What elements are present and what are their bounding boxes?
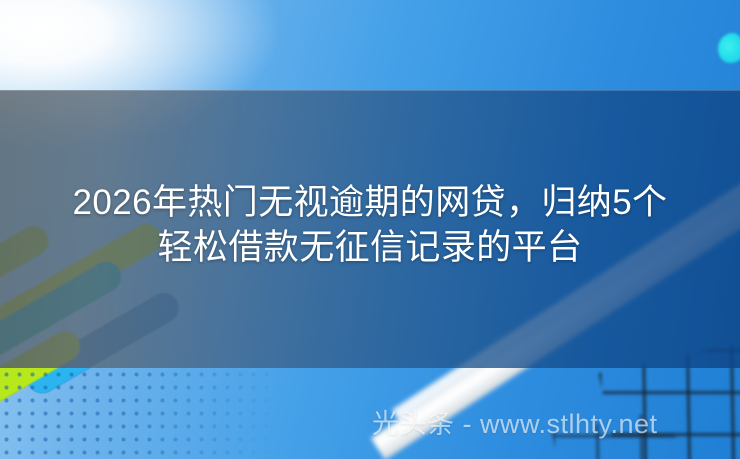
title-line-2: 轻松借款无征信记录的平台	[0, 225, 740, 270]
promo-banner: 2026年热门无视逾期的网贷，归纳5个 轻松借款无征信记录的平台 光头条 - w…	[0, 0, 740, 459]
cyan-blob-decoration	[718, 33, 740, 63]
watermark: 光头条 - www.stlhty.net	[372, 404, 658, 444]
overlay-band-top-edge	[0, 90, 740, 91]
page-title: 2026年热门无视逾期的网贷，归纳5个 轻松借款无征信记录的平台	[0, 180, 740, 270]
diagonal-bars-bright	[0, 368, 250, 459]
title-line-1: 2026年热门无视逾期的网贷，归纳5个	[0, 180, 740, 225]
